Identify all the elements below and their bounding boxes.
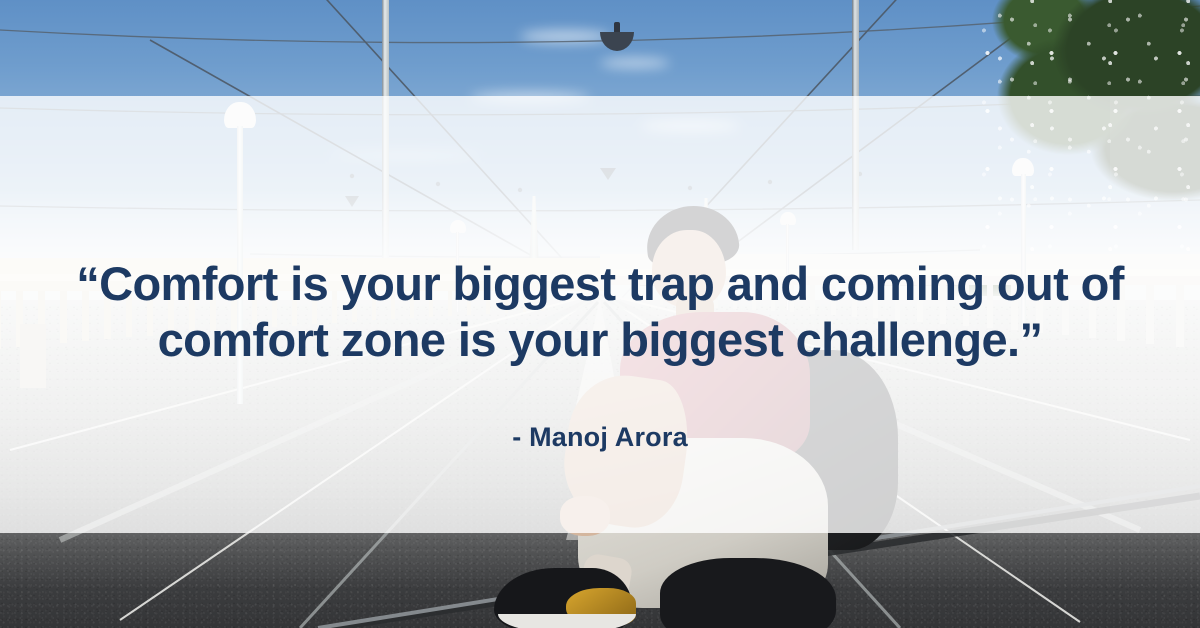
quote-text: “Comfort is your biggest trap and coming… (0, 256, 1200, 369)
quote-text-block: “Comfort is your biggest trap and coming… (0, 96, 1200, 533)
quote-card: “Comfort is your biggest trap and coming… (0, 0, 1200, 628)
sneaker-sole (498, 614, 636, 628)
hanging-lamp-icon (600, 22, 634, 52)
quote-attribution: - Manoj Arora (0, 422, 1200, 453)
sneaker-right (660, 558, 836, 628)
